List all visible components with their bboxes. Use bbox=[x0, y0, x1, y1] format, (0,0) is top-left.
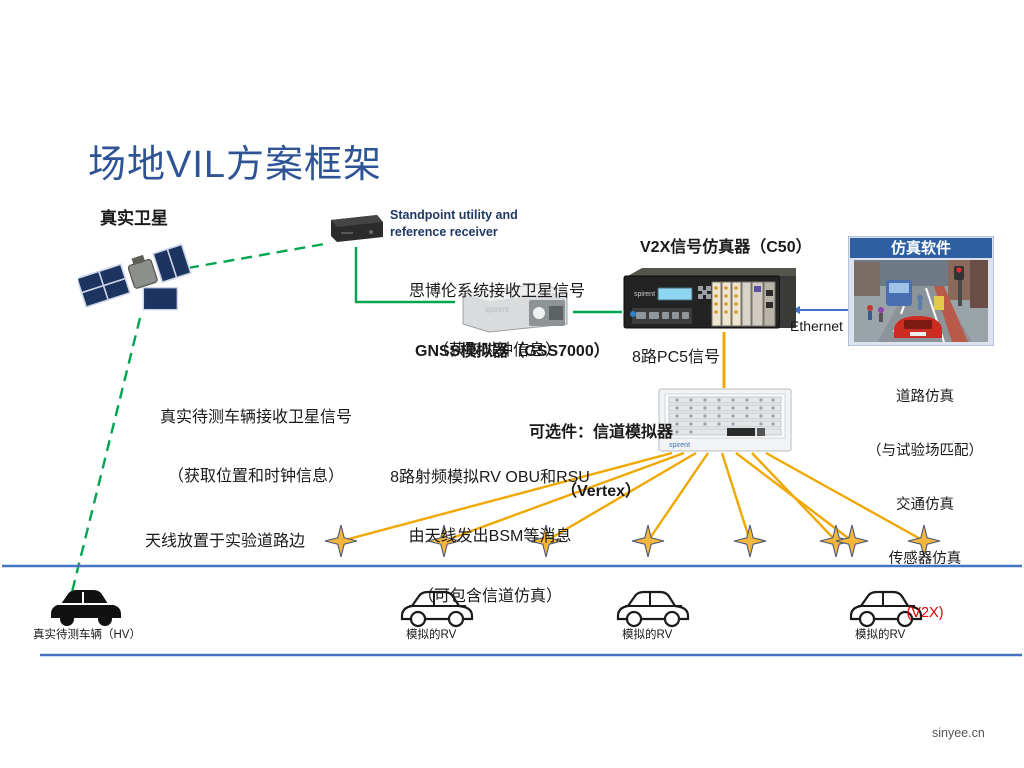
satellite-icon bbox=[78, 232, 210, 336]
rf8-line3: （可包含信道仿真） bbox=[352, 587, 628, 607]
label-real-satellite: 真实卫星 bbox=[100, 208, 168, 229]
roadsim-line2: （与试验场匹配） bbox=[845, 443, 1005, 461]
page-title: 场地VIL方案框架 bbox=[88, 142, 382, 189]
label-simulation-software: 仿真软件 bbox=[850, 240, 992, 259]
rf8-line1: 8路射频模拟RV OBU和RSU bbox=[352, 468, 628, 488]
label-spirent-receiver: 思博伦系统接收卫星信号 （获取时钟信息） bbox=[391, 242, 603, 401]
svg-text:spirent: spirent bbox=[634, 291, 655, 298]
hv-recv-line1: 真实待测车辆接收卫星信号 bbox=[140, 408, 372, 428]
label-gnss-simulator: GNSS模拟器（GSS7000） bbox=[415, 342, 610, 362]
label-v2x-simulator: V2X信号仿真器（C50） bbox=[640, 238, 812, 258]
watermark: sinyee.cn bbox=[932, 726, 985, 742]
roadsim-line4: 传感器仿真 bbox=[845, 551, 1005, 569]
label-pc5-signal: 8路PC5信号 bbox=[632, 348, 720, 368]
standpoint-line1: Standpoint utility and bbox=[390, 207, 518, 224]
label-road-simulation: 道路仿真 （与试验场匹配） 交通仿真 传感器仿真 (V2X) bbox=[845, 353, 1005, 658]
spirent-recv-line1: 思博伦系统接收卫星信号 bbox=[391, 282, 603, 302]
hv-vehicle-icon bbox=[51, 590, 121, 626]
standpoint-receiver-device bbox=[325, 212, 387, 246]
label-hv-vehicle: 真实待测车辆（HV） bbox=[33, 628, 141, 642]
standpoint-line2: reference receiver bbox=[390, 224, 518, 241]
label-rf-8channel: 8路射频模拟RV OBU和RSU 由天线发出BSM等消息 （可包含信道仿真） bbox=[352, 428, 628, 646]
label-rv-vehicle: 模拟的RV bbox=[855, 628, 905, 642]
label-standpoint-receiver-en: Standpoint utility and reference receive… bbox=[390, 207, 518, 240]
label-rv-vehicle: 模拟的RV bbox=[622, 628, 672, 642]
slide-canvas: spirent spirent bbox=[0, 0, 1024, 768]
label-hv-receive-satellite: 真实待测车辆接收卫星信号 （获取位置和时钟信息） bbox=[140, 368, 372, 527]
v2x-simulator-device: spirent bbox=[620, 264, 798, 332]
rf8-line2: 由天线发出BSM等消息 bbox=[352, 527, 628, 547]
roadsim-line3: 交通仿真 bbox=[845, 497, 1005, 515]
label-antenna-placement: 天线放置于实验道路边 bbox=[145, 532, 305, 552]
label-ethernet: Ethernet bbox=[790, 318, 843, 335]
rv-vehicle-icon bbox=[618, 592, 688, 626]
roadsim-line1: 道路仿真 bbox=[845, 389, 1005, 407]
hv-recv-line2: （获取位置和时钟信息） bbox=[140, 467, 372, 487]
roadsim-v2x-tag: (V2X) bbox=[845, 605, 1005, 623]
label-rv-vehicle: 模拟的RV bbox=[406, 628, 456, 642]
